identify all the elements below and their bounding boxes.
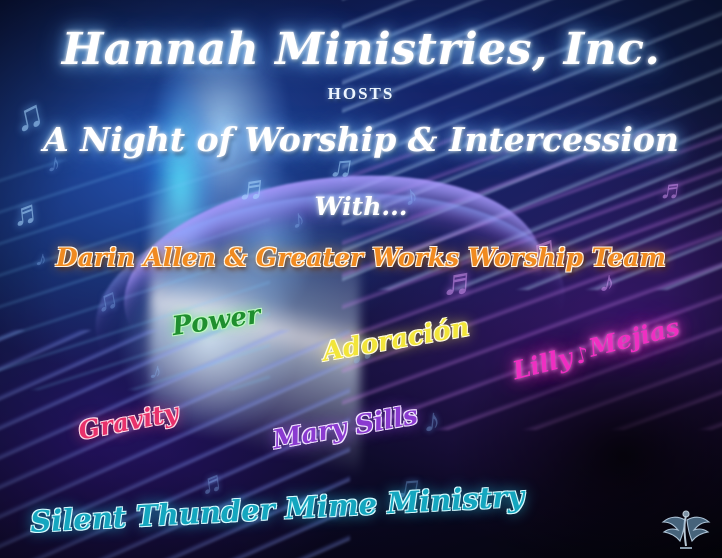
performer-lilly-label: Lilly [510, 343, 576, 386]
event-date-ordinal: th [69, 9, 82, 20]
music-note-icon: ♪ [147, 359, 165, 385]
music-note-icon: ♫ [94, 284, 121, 317]
performer-lilly: Lilly♪ [510, 338, 595, 386]
featured-band-name: Darin Allen & Greater Works Worship Team [0, 243, 722, 272]
music-note-icon: ♪ [422, 403, 442, 439]
performer-silent-thunder-mime-ministry: Silent Thunder Mime Ministry [29, 479, 524, 539]
performer-mejias: Mejias [586, 312, 683, 362]
hosts-label: HOSTS [0, 84, 722, 104]
event-subtitle: A Night of Worship & Intercession [0, 120, 722, 159]
performer-adoracion: Adoración [321, 312, 472, 367]
performer-mary-sills: Mary Sills [271, 401, 421, 456]
performer-power: Power [170, 300, 262, 342]
staff-lines-magenta [342, 130, 722, 430]
performer-gravity: Gravity [76, 398, 181, 446]
page-title: Hannah Ministries, Inc. [0, 24, 722, 75]
neon-swoosh-ribbon [108, 150, 557, 416]
event-flyer: ♫♪♬♪♫♬♪♫♪♬♫♪♫♪♬♫♪♬♪ Hannah Ministries, I… [0, 0, 722, 558]
with-label: With... [0, 192, 722, 221]
winged-angel-logo-icon [658, 506, 714, 554]
